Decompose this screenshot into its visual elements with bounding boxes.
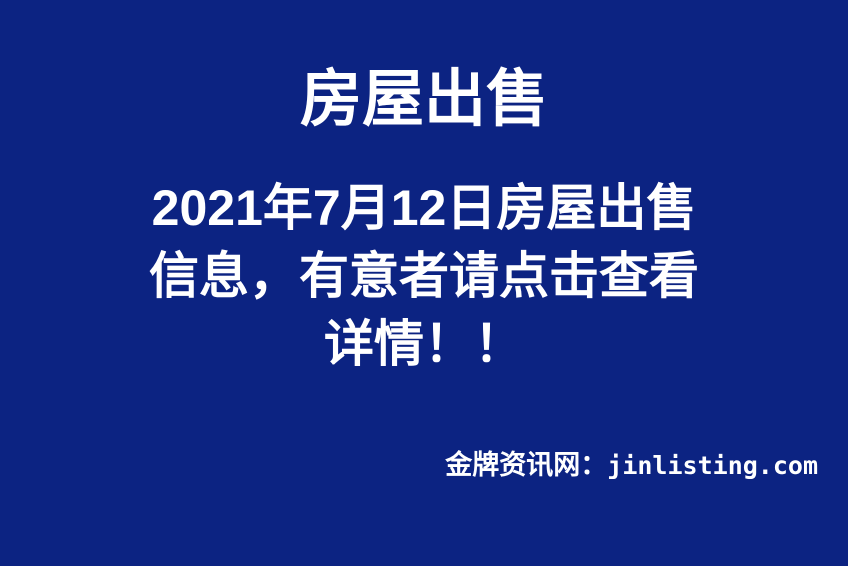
body-line-3: 详情！！	[0, 310, 848, 378]
footer-brand-label: 金牌资讯网：	[445, 450, 607, 480]
footer-domain-text: jinlisting.com	[607, 451, 818, 480]
announcement-body: 2021年7月12日房屋出售 信息，有意者请点击查看 详情！！	[0, 174, 848, 378]
announcement-poster: 房屋出售 2021年7月12日房屋出售 信息，有意者请点击查看 详情！！ 金牌资…	[0, 0, 848, 566]
footer-attribution: 金牌资讯网：jinlisting.com	[445, 448, 818, 483]
page-title: 房屋出售	[0, 62, 848, 138]
body-line-1: 2021年7月12日房屋出售	[0, 174, 848, 242]
body-line-2: 信息，有意者请点击查看	[0, 242, 848, 310]
